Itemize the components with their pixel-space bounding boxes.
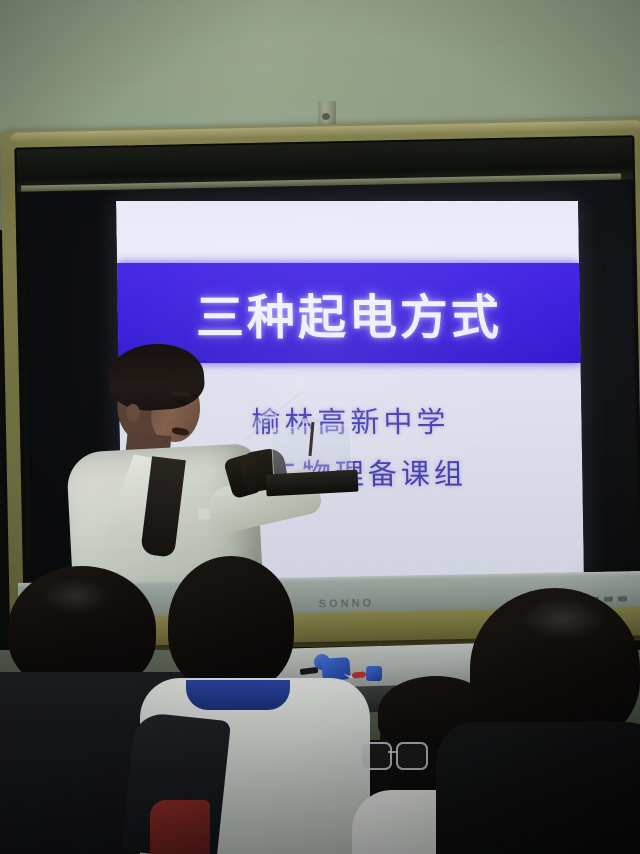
student-right-body xyxy=(436,722,640,854)
student-glasses-icon xyxy=(360,742,426,768)
desk-blue-terminal xyxy=(366,666,382,681)
student-right-hair-highlight xyxy=(520,598,606,640)
student-left-center-collar xyxy=(186,680,290,710)
bezel-button-2[interactable] xyxy=(604,597,613,602)
classroom-photo-scene: 三种起电方式 榆林高新中学 高二物理备课组 SONNO xyxy=(0,0,640,854)
teacher-figure xyxy=(60,330,320,600)
bezel-button-3[interactable] xyxy=(618,596,627,601)
teacher-ear xyxy=(126,404,140,422)
glass-rod-icon xyxy=(245,379,306,433)
teacher-hair xyxy=(106,341,206,414)
bracket-bolt-icon xyxy=(322,113,330,120)
glasses-lens-right xyxy=(396,742,428,770)
student-left-hair-highlight xyxy=(40,578,110,614)
student-left-center-head xyxy=(168,556,294,692)
student-left-center-bag xyxy=(150,800,210,854)
glasses-lens-left xyxy=(360,742,392,770)
